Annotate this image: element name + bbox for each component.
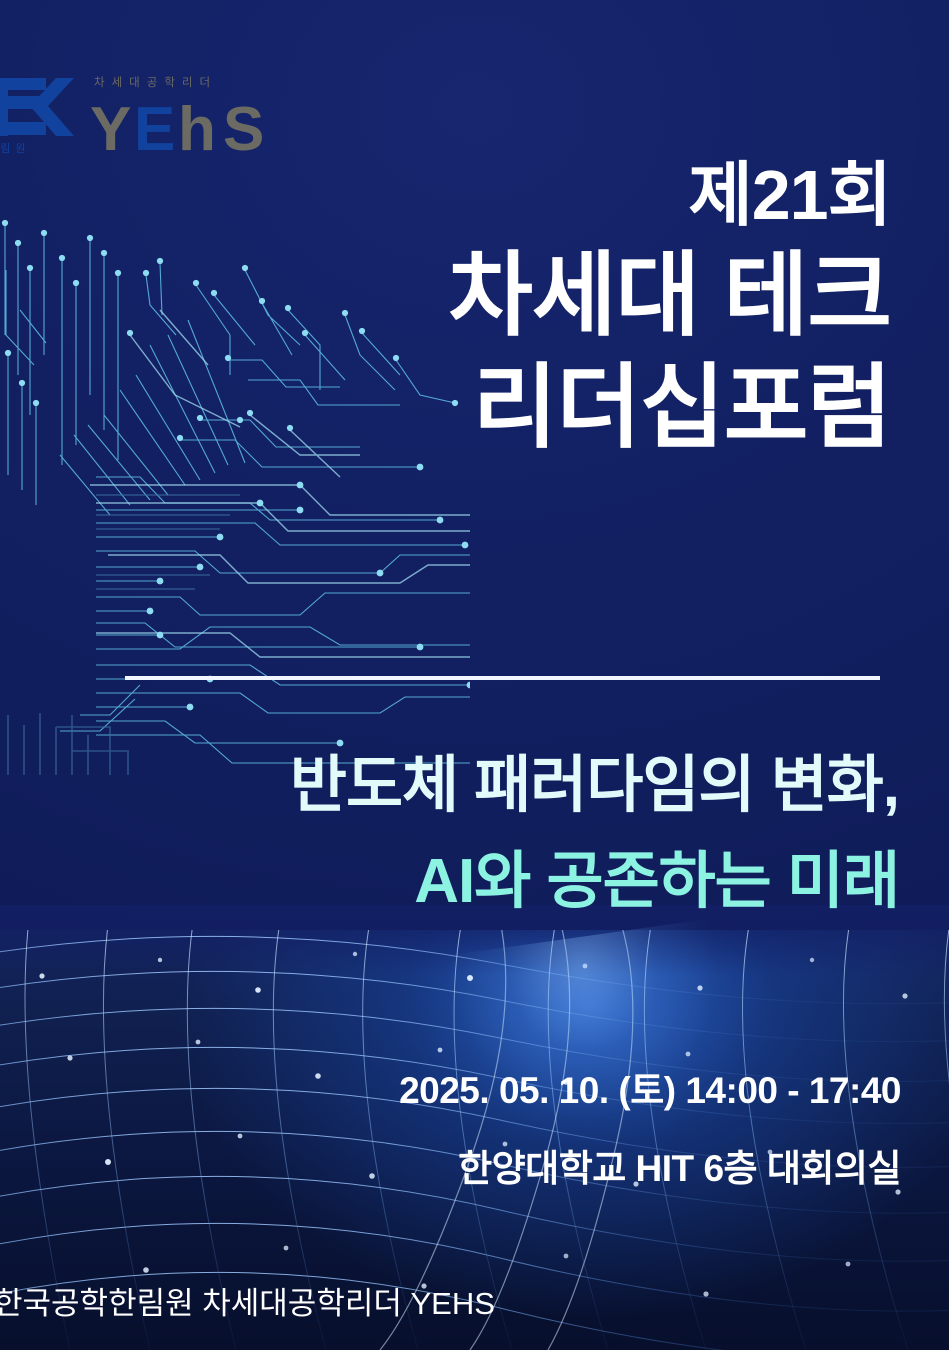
svg-text:학한림원: 학한림원 bbox=[0, 142, 30, 155]
svg-text:S: S bbox=[223, 95, 264, 157]
event-info-block: 2025. 05. 10. (토) 14:00 - 17:40 한양대학교 HI… bbox=[399, 1060, 901, 1192]
svg-text:Y: Y bbox=[90, 95, 131, 157]
subtitle-block: 반도체 패러다임의 변화, AI와 공존하는 미래 bbox=[290, 755, 899, 913]
headline-title-line-1: 차세대 테크 bbox=[448, 250, 891, 342]
headline-title-line-2: 리더십포럼 bbox=[448, 362, 891, 454]
headline-edition: 제21회 bbox=[448, 160, 891, 230]
naek-yehs-logo[interactable]: 학한림원 차세대공학리더 Y E h S bbox=[0, 52, 308, 157]
svg-text:h: h bbox=[178, 95, 216, 157]
circuit-board-graphic bbox=[0, 215, 470, 775]
horizontal-divider bbox=[125, 676, 880, 680]
logo-mark-naek bbox=[0, 78, 74, 136]
footer-organizer: 한국공학한림원 차세대공학리더 YEHS bbox=[0, 1278, 495, 1323]
event-venue: 한양대학교 HIT 6층 대회의실 bbox=[399, 1138, 901, 1192]
svg-text:E: E bbox=[134, 95, 175, 157]
headline-block: 제21회 차세대 테크 리더십포럼 bbox=[448, 160, 891, 454]
logo-subtext-korean: 학한림원 bbox=[0, 142, 30, 155]
subtitle-line-2: AI와 공존하는 미래 bbox=[290, 851, 899, 913]
svg-text:차세대공학리더: 차세대공학리더 bbox=[94, 76, 217, 89]
subtitle-line-1: 반도체 패러다임의 변화, bbox=[290, 755, 899, 817]
poster-canvas: 학한림원 차세대공학리더 Y E h S 제21회 차세대 테크 리더십포럼 반… bbox=[0, 0, 949, 1350]
event-date-time: 2025. 05. 10. (토) 14:00 - 17:40 bbox=[399, 1060, 901, 1114]
logo-tagline-korean: 차세대공학리더 bbox=[94, 76, 217, 89]
logo-wordmark-yehs: Y E h S bbox=[90, 95, 264, 157]
